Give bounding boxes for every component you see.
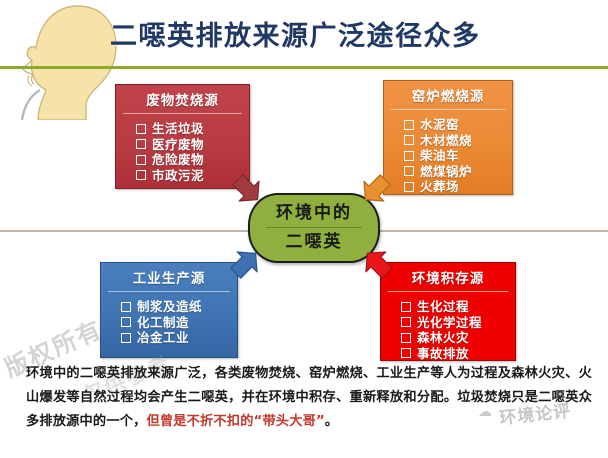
list-item: 医疗废物 [136,137,249,153]
list-item-label: 生化过程 [417,299,469,315]
checkbox-icon [401,317,411,327]
checkbox-icon [121,302,131,312]
list-item-label: 火葬场 [420,179,459,195]
source-box-kiln[interactable]: 窑炉燃烧源 水泥窑 木材燃烧 柴油车 燃煤锅炉 火葬场 [383,80,513,195]
arrow-waste-to-center [226,168,268,210]
source-box-kiln-header: 窑炉燃烧源 [384,81,512,109]
list-item-label: 危险废物 [152,152,204,168]
list-item: 制浆及造纸 [121,299,237,315]
source-box-reservoir-header: 环境积存源 [381,263,515,291]
checkbox-icon [136,170,146,180]
checkbox-icon [404,182,414,192]
list-item-label: 柴油车 [420,148,459,164]
checkbox-icon [404,120,414,130]
list-item-label: 冶金工业 [137,330,189,346]
checkbox-icon [401,348,411,358]
list-item: 森林火灾 [401,330,515,346]
checkbox-icon [121,317,131,327]
source-box-reservoir[interactable]: 环境积存源 生化过程 光化学过程 森林火灾 事故排放 [380,262,516,361]
caption-highlight: 但曾是不折不扣的“带头大哥” [147,414,325,429]
arrow-reservoir-to-center [357,243,399,285]
title-rule [0,66,608,69]
center-node-line2: 二噁英 [286,230,343,255]
checkbox-icon [121,333,131,343]
list-item: 冶金工业 [121,330,237,346]
arrow-industry-to-center [224,243,266,285]
list-item-label: 医疗废物 [152,137,204,153]
list-item: 生化过程 [401,299,515,315]
checkbox-icon [136,124,146,134]
list-item-label: 水泥窑 [420,117,459,133]
list-item: 光化学过程 [401,315,515,331]
checkbox-icon [401,302,411,312]
source-box-waste-header: 废物焚烧源 [116,85,249,113]
list-item-label: 生活垃圾 [152,121,204,137]
list-item-label: 光化学过程 [417,315,482,331]
divider [266,227,362,228]
list-item: 生活垃圾 [136,121,249,137]
list-item: 火葬场 [404,179,512,195]
checkbox-icon [136,139,146,149]
source-box-industry-list: 制浆及造纸 化工制造 冶金工业 [101,292,237,352]
list-item: 危险废物 [136,152,249,168]
source-box-industry-header: 工业生产源 [101,263,237,291]
list-item: 水泥窑 [404,117,512,133]
caption-paragraph: 环境中的二噁英排放来源广泛，各类废物焚烧、窑炉燃烧、工业生产等人为过程及森林火灾… [26,362,592,434]
center-node-line1: 环境中的 [276,201,352,226]
caption-part2: 。 [325,414,338,429]
checkbox-icon [401,333,411,343]
list-item-label: 森林火灾 [417,330,469,346]
slide-canvas: 二噁英排放来源广泛途径众多 废物焚烧源 生活垃圾 医疗废物 危险废物 市政污泥 … [0,0,608,458]
checkbox-icon [136,155,146,165]
list-item: 化工制造 [121,315,237,331]
list-item: 燃煤锅炉 [404,164,512,180]
list-item-label: 木材燃烧 [420,133,472,149]
list-item-label: 燃煤锅炉 [420,164,472,180]
checkbox-icon [404,135,414,145]
source-box-kiln-list: 水泥窑 木材燃烧 柴油车 燃煤锅炉 火葬场 [384,110,512,201]
list-item-label: 化工制造 [137,315,189,331]
source-box-industry[interactable]: 工业生产源 制浆及造纸 化工制造 冶金工业 [100,262,238,358]
list-item: 事故排放 [401,346,515,362]
list-item-label: 事故排放 [417,346,469,362]
checkbox-icon [404,166,414,176]
list-item-label: 制浆及造纸 [137,299,202,315]
source-box-reservoir-list: 生化过程 光化学过程 森林火灾 事故排放 [381,292,515,367]
list-item-label: 市政污泥 [152,168,204,184]
list-item: 柴油车 [404,148,512,164]
page-title: 二噁英排放来源广泛途径众多 [110,14,481,53]
arrow-kiln-to-center [355,168,397,210]
list-item: 木材燃烧 [404,133,512,149]
checkbox-icon [404,151,414,161]
